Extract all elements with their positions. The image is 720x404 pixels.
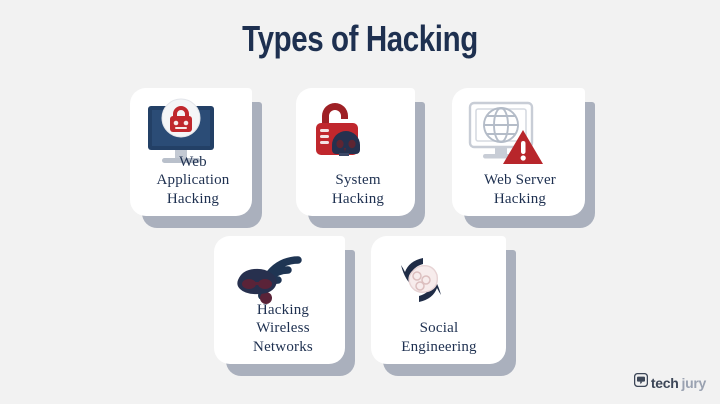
- logo-text-primary: tech: [651, 375, 679, 391]
- logo-text-secondary: jury: [682, 375, 706, 391]
- cycle-arrows-people-icon: [383, 246, 459, 323]
- globe-monitor-warning-icon: [464, 98, 548, 181]
- card-label: WebApplicationHacking: [143, 153, 243, 208]
- techjury-chat-icon: [634, 373, 648, 392]
- open-padlock-skull-icon: [308, 98, 380, 175]
- card-label: Web ServerHacking: [464, 171, 576, 208]
- card-label: SystemHacking: [310, 171, 406, 208]
- techjury-logo[interactable]: tech jury: [634, 373, 706, 392]
- card-web-server-hacking[interactable]: Web ServerHacking: [452, 88, 585, 216]
- page-title: Types of Hacking: [65, 18, 655, 60]
- card-web-application-hacking[interactable]: WebApplicationHacking: [130, 88, 252, 216]
- card-social-engineering[interactable]: SocialEngineering: [371, 236, 506, 364]
- card-label: SocialEngineering: [381, 319, 497, 356]
- card-system-hacking[interactable]: SystemHacking: [296, 88, 415, 216]
- card-hacking-wireless-networks[interactable]: HackingWirelessNetworks: [214, 236, 345, 364]
- card-label: HackingWirelessNetworks: [230, 301, 336, 356]
